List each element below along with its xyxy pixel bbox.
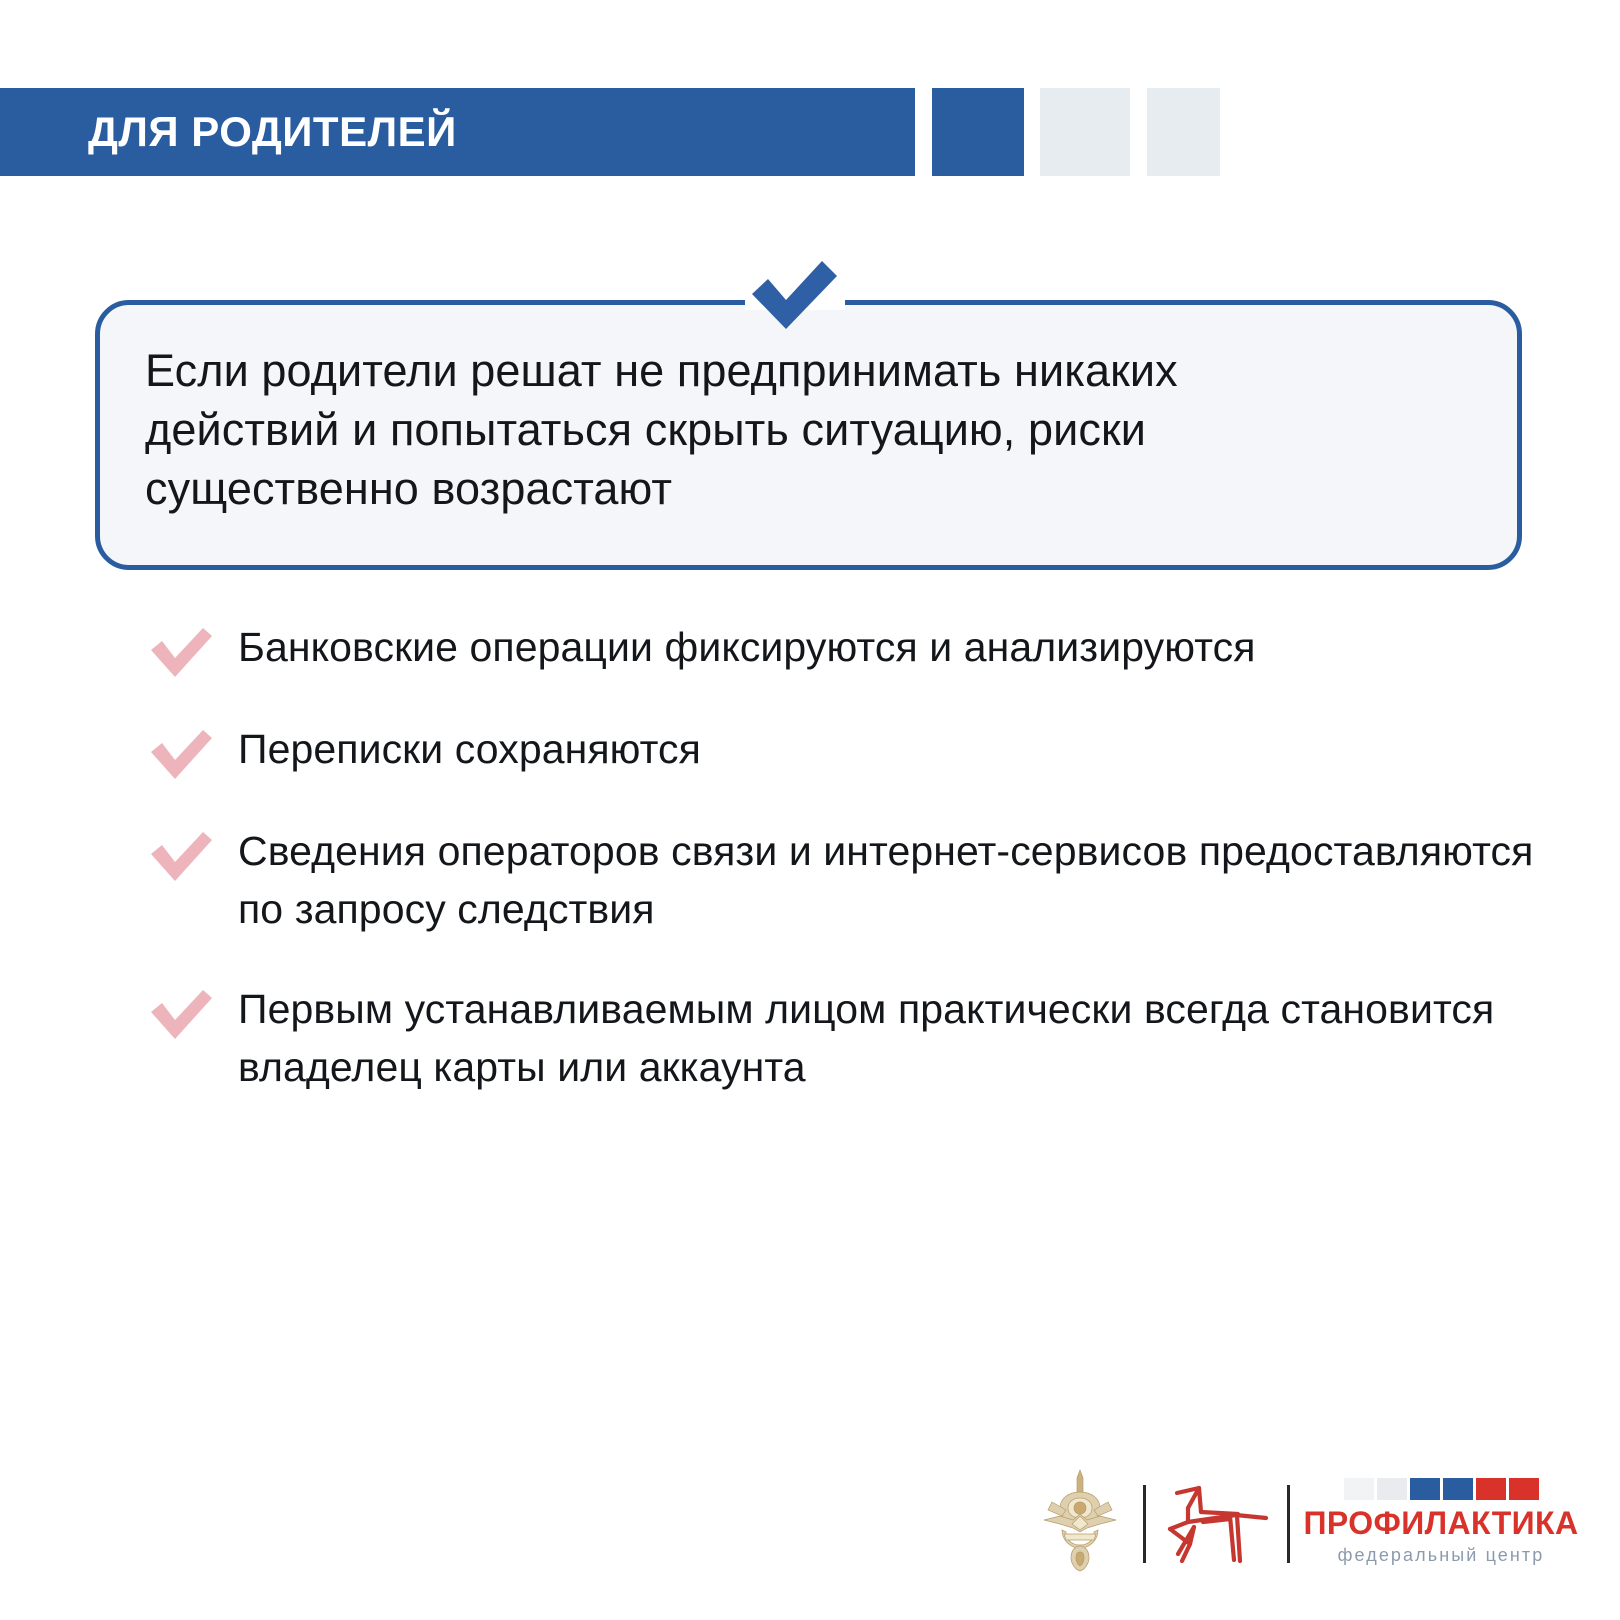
list-item: Переписки сохраняются bbox=[148, 720, 1548, 780]
checkmark-icon bbox=[748, 258, 840, 330]
header-band: ДЛЯ РОДИТЕЛЕЙ bbox=[0, 88, 1620, 176]
logo-swatch-5 bbox=[1476, 1478, 1506, 1500]
logo-swatch-2 bbox=[1377, 1478, 1407, 1500]
logo-brand-name: ПРОФИЛАКТИКА bbox=[1302, 1507, 1580, 1539]
logo-subtitle: федеральный центр bbox=[1302, 1546, 1580, 1564]
logo-swatch-1 bbox=[1344, 1478, 1374, 1500]
check-icon bbox=[148, 626, 214, 678]
check-icon bbox=[148, 988, 214, 1040]
list-item: Сведения операторов связи и интернет-сер… bbox=[148, 822, 1548, 938]
profilaktika-logo: ПРОФИЛАКТИКА федеральный центр bbox=[1302, 1478, 1580, 1564]
header-block-blue bbox=[932, 88, 1024, 176]
logo-swatch-6 bbox=[1509, 1478, 1539, 1500]
red-horse-line-icon bbox=[1158, 1482, 1270, 1566]
logo-swatch-3 bbox=[1410, 1478, 1440, 1500]
page-title: ДЛЯ РОДИТЕЛЕЙ bbox=[88, 88, 457, 176]
list-item: Первым устанавливаемым лицом практически… bbox=[148, 980, 1548, 1096]
list-item-label: Первым устанавливаемым лицом практически… bbox=[238, 980, 1548, 1096]
logo-swatch-4 bbox=[1443, 1478, 1473, 1500]
logo-swatches bbox=[1302, 1478, 1580, 1500]
callout-text: Если родители решат не предпринимать ник… bbox=[145, 341, 1375, 518]
list-item-label: Сведения операторов связи и интернет-сер… bbox=[238, 822, 1548, 938]
bullet-list: Банковские операции фиксируются и анализ… bbox=[148, 618, 1548, 1138]
investigative-committee-emblem-icon bbox=[1038, 1468, 1122, 1572]
list-item: Банковские операции фиксируются и анализ… bbox=[148, 618, 1548, 678]
footer-divider-2 bbox=[1287, 1485, 1290, 1563]
list-item-label: Переписки сохраняются bbox=[238, 720, 1548, 778]
footer-divider-1 bbox=[1143, 1485, 1146, 1563]
footer: ПРОФИЛАКТИКА федеральный центр bbox=[1030, 1460, 1590, 1580]
header-block-gray-1 bbox=[1040, 88, 1130, 176]
check-icon bbox=[148, 830, 214, 882]
header-block-gray-2 bbox=[1147, 88, 1220, 176]
list-item-label: Банковские операции фиксируются и анализ… bbox=[238, 618, 1548, 676]
check-icon bbox=[148, 728, 214, 780]
